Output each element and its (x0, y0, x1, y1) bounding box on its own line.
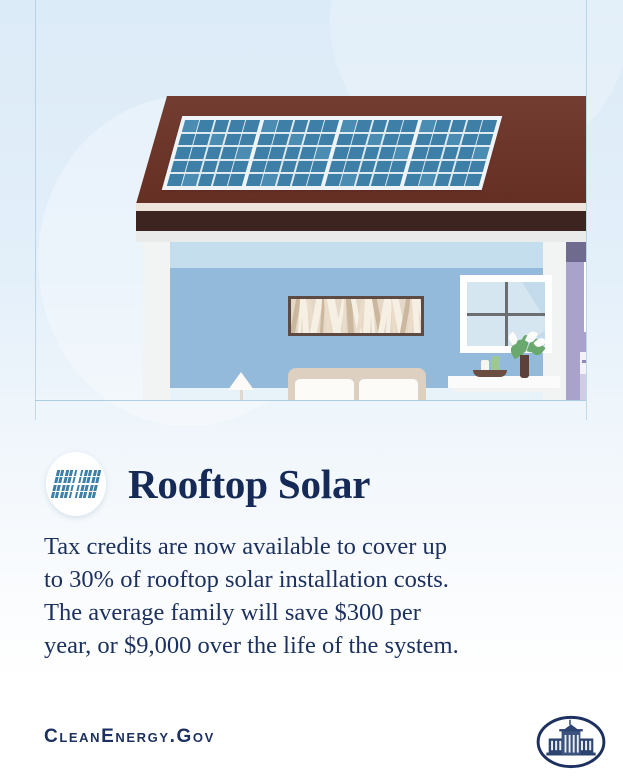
solar-panel-group (167, 120, 260, 186)
body-line: The average family will save $300 per (44, 596, 564, 629)
body-line: Tax credits are now available to cover u… (44, 530, 564, 563)
adjacent-room-header (566, 242, 586, 262)
soffit-band (136, 231, 586, 242)
brand-url[interactable]: CleanEnergy.Gov (44, 726, 215, 748)
solar-icon-panel (51, 470, 78, 498)
roof-trim-dark (136, 211, 586, 231)
page-title: Rooftop Solar (128, 464, 370, 505)
window-mullion-horizontal (467, 313, 545, 316)
solar-panel-icon (46, 452, 106, 516)
solar-panel-group (404, 120, 497, 186)
rooftop-solar-house-illustration (35, 0, 586, 401)
poster: Rooftop Solar Tax credits are now availa… (0, 0, 623, 778)
roof-trim-light (136, 203, 586, 211)
body-line: to 30% of rooftop solar installation cos… (44, 563, 564, 596)
solar-panel-group (246, 120, 339, 186)
table-lamp-stem (240, 390, 243, 400)
title-row: Rooftop Solar (46, 452, 370, 516)
body-copy: Tax credits are now available to cover u… (44, 530, 564, 662)
candle-bowl (473, 370, 507, 377)
artwork-canvas (291, 299, 421, 333)
illustration-bottom-edge (35, 400, 586, 401)
adjacent-room-door (584, 262, 586, 332)
table-lamp-shade (228, 372, 254, 390)
bedroom-upper-wall (170, 242, 543, 268)
left-wall-column (143, 242, 170, 400)
roof-solar-array (162, 116, 503, 190)
framed-artwork (288, 296, 424, 336)
bed-pillow (295, 379, 354, 400)
house-graphic (35, 0, 586, 400)
console-table (448, 376, 560, 388)
solar-icon-panel (74, 470, 101, 498)
guide-line-right (586, 0, 587, 420)
footer: CleanEnergy.Gov (0, 710, 623, 778)
body-line: year, or $9,000 over the life of the sys… (44, 629, 564, 662)
adjacent-room-cabinet (580, 352, 586, 400)
solar-panel-group (325, 120, 418, 186)
white-house-seal (535, 715, 607, 769)
flower-vase (520, 355, 529, 378)
bed-pillow (359, 379, 418, 400)
candle-green (492, 356, 500, 371)
